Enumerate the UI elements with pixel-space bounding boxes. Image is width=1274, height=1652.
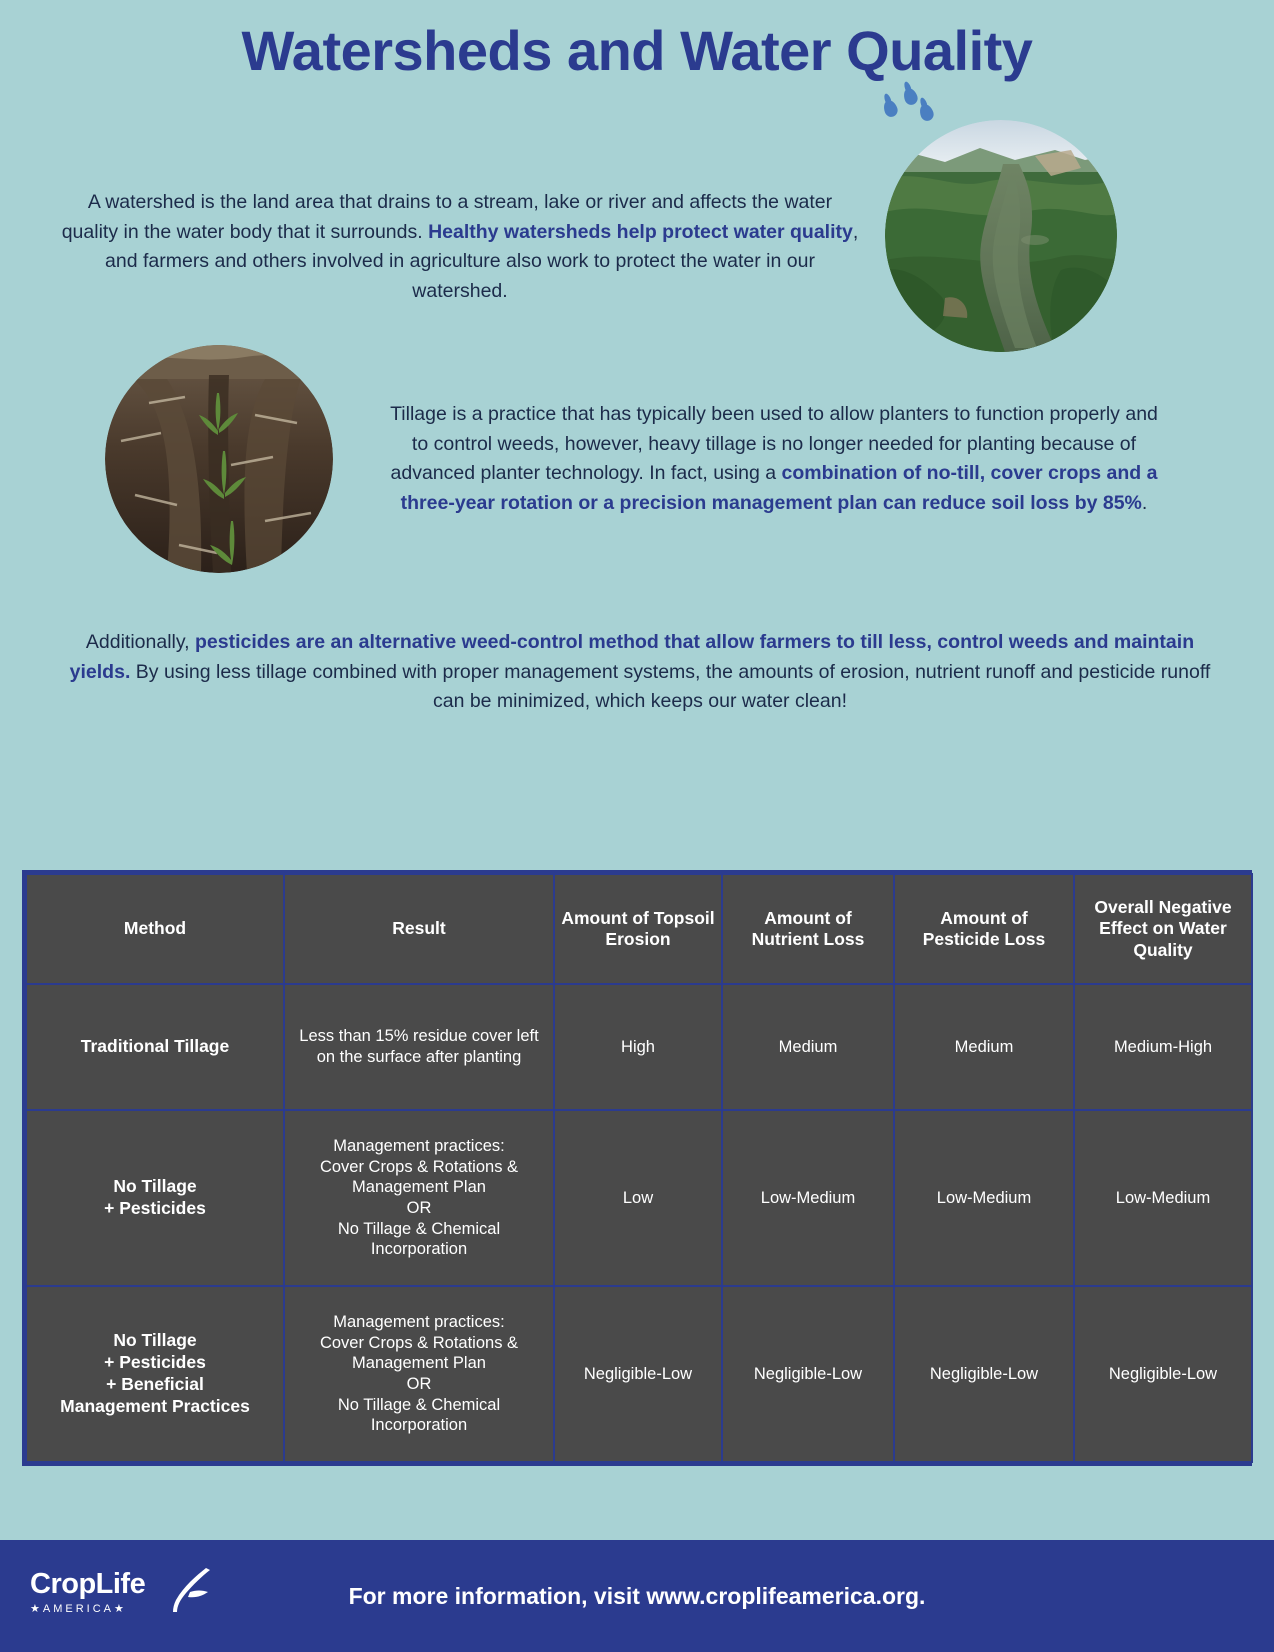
cell-method: No Tillage+ Pesticides+ BeneficialManage…	[26, 1286, 284, 1462]
cell-result: Management practices:Cover Crops & Rotat…	[284, 1110, 554, 1286]
header-nutrient: Amount of Nutrient Loss	[722, 874, 894, 984]
logo-wordmark: CropLife	[30, 1570, 250, 1599]
croplife-america-logo[interactable]: CropLife ★AMERICA★	[30, 1570, 250, 1626]
pesticides-text-part2: By using less tillage combined with prop…	[130, 661, 1210, 713]
header-pesticide: Amount of Pesticide Loss	[894, 874, 1074, 984]
header-method: Method	[26, 874, 284, 984]
tillage-paragraph: Tillage is a practice that has typically…	[390, 400, 1158, 519]
intro-text-bold: Healthy watersheds help protect water qu…	[428, 221, 853, 243]
cell-overall: Low-Medium	[1074, 1110, 1252, 1286]
header-topsoil: Amount of Topsoil Erosion	[554, 874, 722, 984]
table-row: No Tillage+ Pesticides+ BeneficialManage…	[26, 1286, 1252, 1462]
cell-nutrient: Low-Medium	[722, 1110, 894, 1286]
pesticides-text-part1: Additionally,	[86, 631, 195, 653]
header-result: Result	[284, 874, 554, 984]
table-row: No Tillage+ Pesticides Management practi…	[26, 1110, 1252, 1286]
intro-paragraph: A watershed is the land area that drains…	[60, 188, 860, 307]
river-photo	[885, 120, 1117, 352]
field-photo	[105, 345, 333, 573]
cell-nutrient: Negligible-Low	[722, 1286, 894, 1462]
page-title: Watersheds and Water Quality	[0, 18, 1274, 83]
table-header-row: Method Result Amount of Topsoil Erosion …	[26, 874, 1252, 984]
cell-nutrient: Medium	[722, 984, 894, 1110]
footer-bar: For more information, visit www.croplife…	[0, 1540, 1274, 1652]
tillage-text-part2: .	[1142, 492, 1147, 514]
cell-overall: Medium-High	[1074, 984, 1252, 1110]
cell-overall: Negligible-Low	[1074, 1286, 1252, 1462]
cell-method: Traditional Tillage	[26, 984, 284, 1110]
tillage-comparison-table: Method Result Amount of Topsoil Erosion …	[25, 873, 1253, 1463]
table-row: Traditional Tillage Less than 15% residu…	[26, 984, 1252, 1110]
comparison-table-wrapper: Method Result Amount of Topsoil Erosion …	[22, 870, 1252, 1466]
cell-method: No Tillage+ Pesticides	[26, 1110, 284, 1286]
cell-topsoil: High	[554, 984, 722, 1110]
cell-pesticide: Negligible-Low	[894, 1286, 1074, 1462]
cell-result: Management practices:Cover Crops & Rotat…	[284, 1286, 554, 1462]
cell-pesticide: Low-Medium	[894, 1110, 1074, 1286]
cell-topsoil: Negligible-Low	[554, 1286, 722, 1462]
infographic-page: Watersheds and Water Quality	[0, 0, 1274, 1652]
cell-topsoil: Low	[554, 1110, 722, 1286]
header-overall: Overall Negative Effect on Water Quality	[1074, 874, 1252, 984]
leaf-swoosh-icon	[166, 1566, 212, 1614]
cell-result: Less than 15% residue cover left on the …	[284, 984, 554, 1110]
droplet-icon	[901, 86, 919, 106]
droplet-icon	[917, 102, 935, 122]
droplet-icon	[881, 98, 899, 118]
pesticides-paragraph: Additionally, pesticides are an alternat…	[65, 628, 1215, 717]
logo-subtext: ★AMERICA★	[30, 1602, 250, 1615]
cell-pesticide: Medium	[894, 984, 1074, 1110]
